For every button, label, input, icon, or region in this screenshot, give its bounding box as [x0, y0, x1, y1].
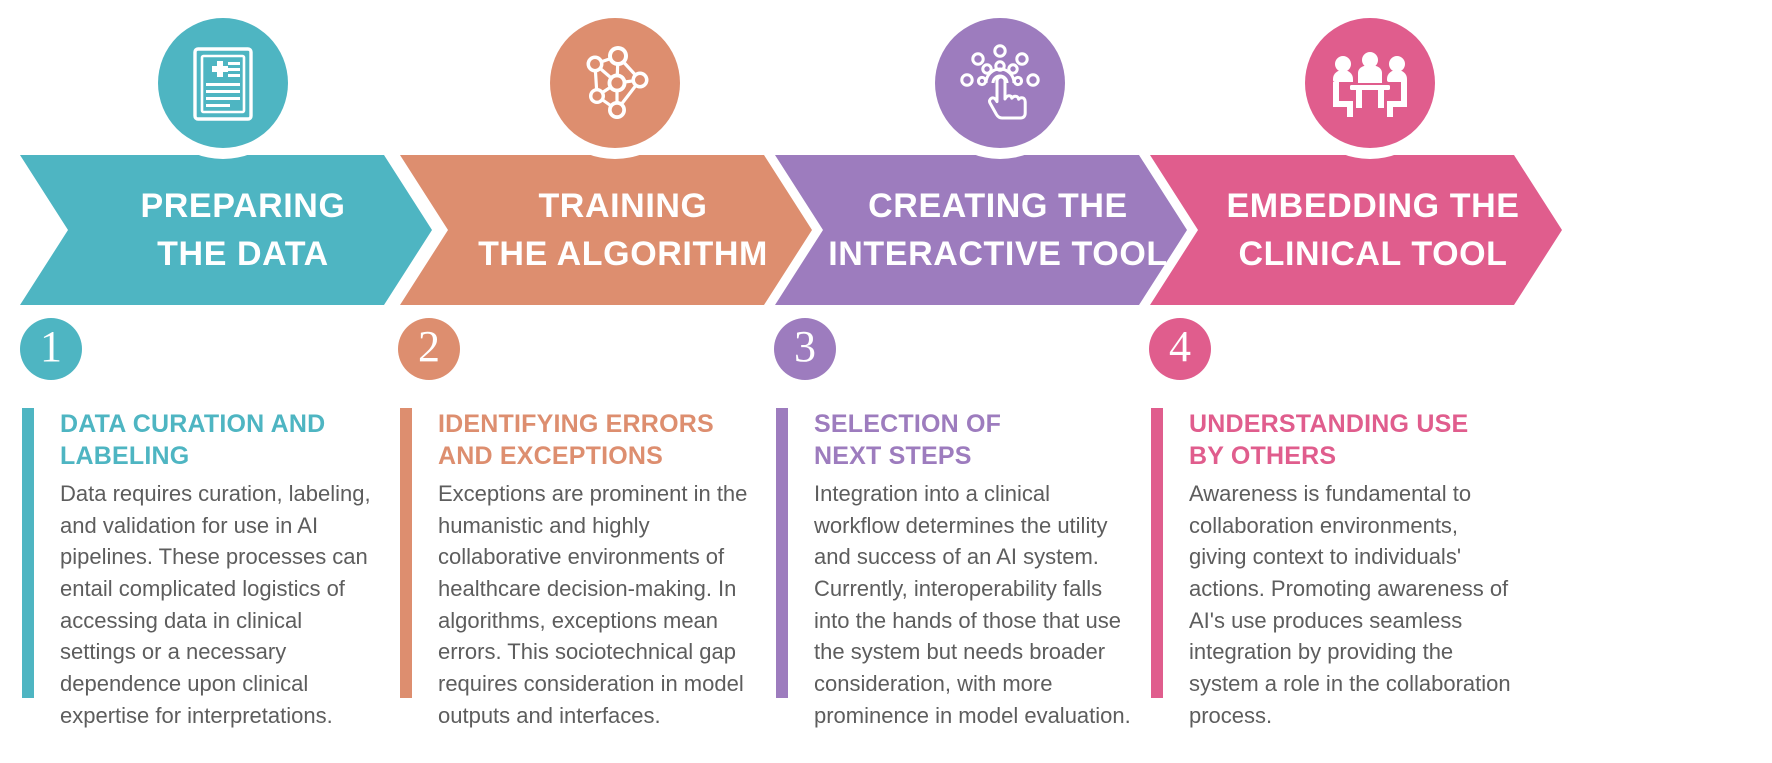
step-3-creating-the-interactive-tool: CREATING THE INTERACTIVE TOOL: [775, 0, 1187, 310]
step-number-badge-2: 2: [398, 318, 460, 380]
step-1-banner[interactable]: PREPARING THE DATA: [20, 155, 432, 305]
detail-heading-2-line2: AND EXCEPTIONS: [438, 442, 663, 470]
step-2-banner-line2: THE ALGORITHM: [478, 230, 768, 278]
step-number-3: 3: [794, 325, 816, 369]
step-3-banner[interactable]: CREATING THE INTERACTIVE TOOL: [775, 155, 1187, 305]
detail-column-3: SELECTION OF NEXT STEPS Integration into…: [776, 408, 1136, 731]
step-4-banner[interactable]: EMBEDDING THE CLINICAL TOOL: [1150, 155, 1562, 305]
step-3-banner-line2: INTERACTIVE TOOL: [828, 230, 1168, 278]
detail-column-4: UNDERSTANDING USE BY OTHERS Awareness is…: [1151, 408, 1511, 731]
detail-heading-1: DATA CURATION AND LABELING: [60, 408, 382, 472]
step-2-banner-label: TRAINING THE ALGORITHM: [400, 155, 812, 305]
step-1-banner-label: PREPARING THE DATA: [20, 155, 432, 305]
team-meeting-table-icon: [1305, 18, 1435, 148]
hand-tap-interaction-icon: [935, 18, 1065, 148]
accent-bar: [22, 408, 34, 698]
neural-network-nodes-icon: [550, 18, 680, 148]
step-number-1: 1: [40, 325, 62, 369]
step-2-training-the-algorithm: TRAINING THE ALGORITHM: [400, 0, 812, 310]
detail-column-2: IDENTIFYING ERRORS AND EXCEPTIONS Except…: [400, 408, 760, 731]
detail-column-1: DATA CURATION AND LABELING Data requires…: [22, 408, 382, 731]
process-infographic: PREPARING THE DATA: [0, 0, 1772, 763]
step-4-embedding-the-clinical-tool: EMBEDDING THE CLINICAL TOOL: [1150, 0, 1562, 310]
detail-heading-3-line1: SELECTION OF: [814, 410, 1001, 438]
medical-record-document-icon: [158, 18, 288, 148]
detail-heading-2: IDENTIFYING ERRORS AND EXCEPTIONS: [438, 408, 760, 472]
step-4-banner-label: EMBEDDING THE CLINICAL TOOL: [1150, 155, 1562, 305]
step-1-banner-line1: PREPARING: [140, 182, 345, 230]
step-number-4: 4: [1169, 325, 1191, 369]
detail-body-4: Awareness is fundamental to collaboratio…: [1189, 478, 1511, 731]
detail-body-3: Integration into a clinical workflow det…: [814, 478, 1136, 731]
detail-body-2: Exceptions are prominent in the humanist…: [438, 478, 760, 731]
step-number-badge-3: 3: [774, 318, 836, 380]
detail-heading-3: SELECTION OF NEXT STEPS: [814, 408, 1136, 472]
step-3-banner-label: CREATING THE INTERACTIVE TOOL: [775, 155, 1187, 305]
detail-heading-1-line1: DATA CURATION AND: [60, 410, 325, 438]
accent-bar: [1151, 408, 1163, 698]
step-number-2: 2: [418, 325, 440, 369]
step-number-badge-1: 1: [20, 318, 82, 380]
detail-heading-1-line2: LABELING: [60, 442, 189, 470]
step-1-preparing-the-data: PREPARING THE DATA: [20, 0, 432, 310]
accent-bar: [400, 408, 412, 698]
detail-heading-2-line1: IDENTIFYING ERRORS: [438, 410, 714, 438]
step-4-banner-line1: EMBEDDING THE: [1226, 182, 1519, 230]
step-1-banner-line2: THE DATA: [157, 230, 329, 278]
accent-bar: [776, 408, 788, 698]
step-3-banner-line1: CREATING THE: [868, 182, 1128, 230]
detail-body-1: Data requires curation, labeling, and va…: [60, 478, 382, 731]
step-4-banner-line2: CLINICAL TOOL: [1238, 230, 1507, 278]
detail-heading-3-line2: NEXT STEPS: [814, 442, 972, 470]
detail-heading-4-line1: UNDERSTANDING USE: [1189, 410, 1468, 438]
step-2-banner-line1: TRAINING: [538, 182, 707, 230]
banner-row: PREPARING THE DATA: [0, 0, 1772, 310]
step-number-badge-4: 4: [1149, 318, 1211, 380]
detail-heading-4: UNDERSTANDING USE BY OTHERS: [1189, 408, 1511, 472]
detail-heading-4-line2: BY OTHERS: [1189, 442, 1336, 470]
step-2-banner[interactable]: TRAINING THE ALGORITHM: [400, 155, 812, 305]
